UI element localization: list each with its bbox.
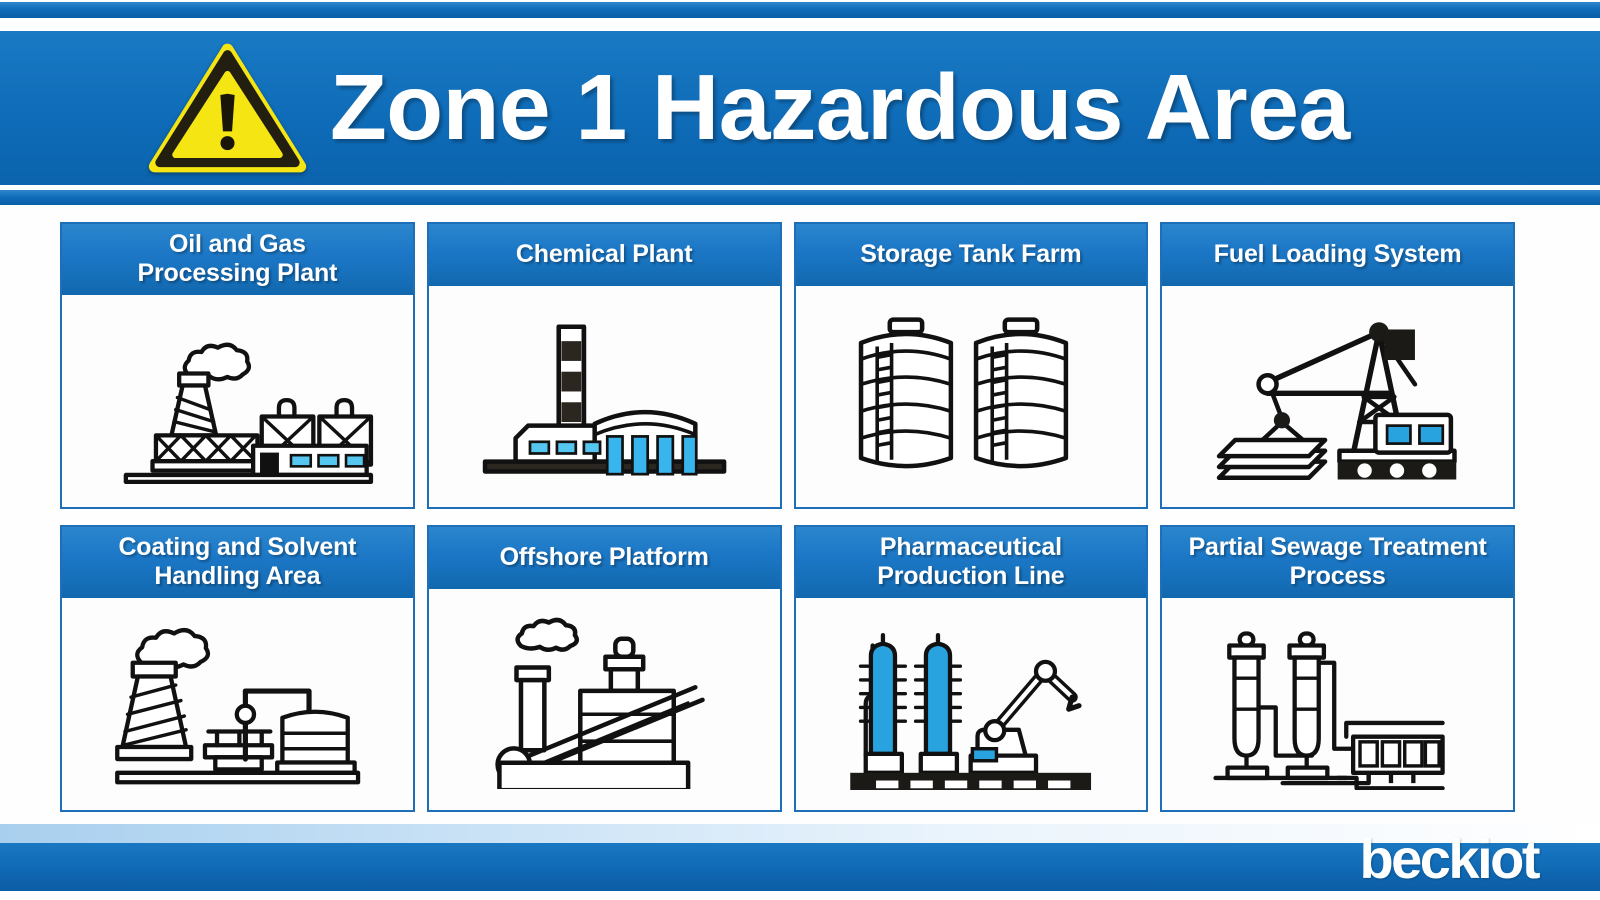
card-storage-tank-farm[interactable]: Storage Tank Farm xyxy=(794,222,1149,509)
infographic-page: Zone 1 Hazardous Area Oil and Gas Proces… xyxy=(0,0,1600,900)
card-pharmaceutical-production-line[interactable]: Pharmaceutical Production Line xyxy=(794,525,1149,812)
card-title: Partial Sewage Treatment Process xyxy=(1162,527,1513,598)
warning-triangle-icon xyxy=(145,43,310,173)
chemical-plant-icon xyxy=(429,286,780,507)
header-top-stripe xyxy=(0,2,1600,18)
card-coating-solvent-handling-area[interactable]: Coating and Solvent Handling Area xyxy=(60,525,415,812)
page-title: Zone 1 Hazardous Area xyxy=(330,47,1350,167)
sewage-treatment-process-icon xyxy=(1162,598,1513,810)
coating-solvent-handling-icon xyxy=(62,598,413,810)
card-title: Oil and Gas Processing Plant xyxy=(62,224,413,295)
card-offshore-platform[interactable]: Offshore Platform xyxy=(427,525,782,812)
beckiot-logo: beckiot xyxy=(1359,826,1538,892)
pharmaceutical-production-line-icon xyxy=(796,598,1147,810)
card-oil-gas-processing-plant[interactable]: Oil and Gas Processing Plant xyxy=(60,222,415,509)
offshore-platform-icon xyxy=(429,589,780,810)
card-fuel-loading-system[interactable]: Fuel Loading System xyxy=(1160,222,1515,509)
card-partial-sewage-treatment-process[interactable]: Partial Sewage Treatment Process xyxy=(1160,525,1515,812)
card-title: Offshore Platform xyxy=(429,527,780,589)
oil-gas-processing-plant-icon xyxy=(62,295,413,507)
card-chemical-plant[interactable]: Chemical Plant xyxy=(427,222,782,509)
hazard-area-card-grid: Oil and Gas Processing Plant xyxy=(60,222,1515,812)
card-title: Storage Tank Farm xyxy=(796,224,1147,286)
card-title: Chemical Plant xyxy=(429,224,780,286)
fuel-loading-system-icon xyxy=(1162,286,1513,507)
header-bottom-stripe xyxy=(0,190,1600,205)
card-title: Coating and Solvent Handling Area xyxy=(62,527,413,598)
card-title: Pharmaceutical Production Line xyxy=(796,527,1147,598)
storage-tank-farm-icon xyxy=(796,286,1147,507)
card-title: Fuel Loading System xyxy=(1162,224,1513,286)
